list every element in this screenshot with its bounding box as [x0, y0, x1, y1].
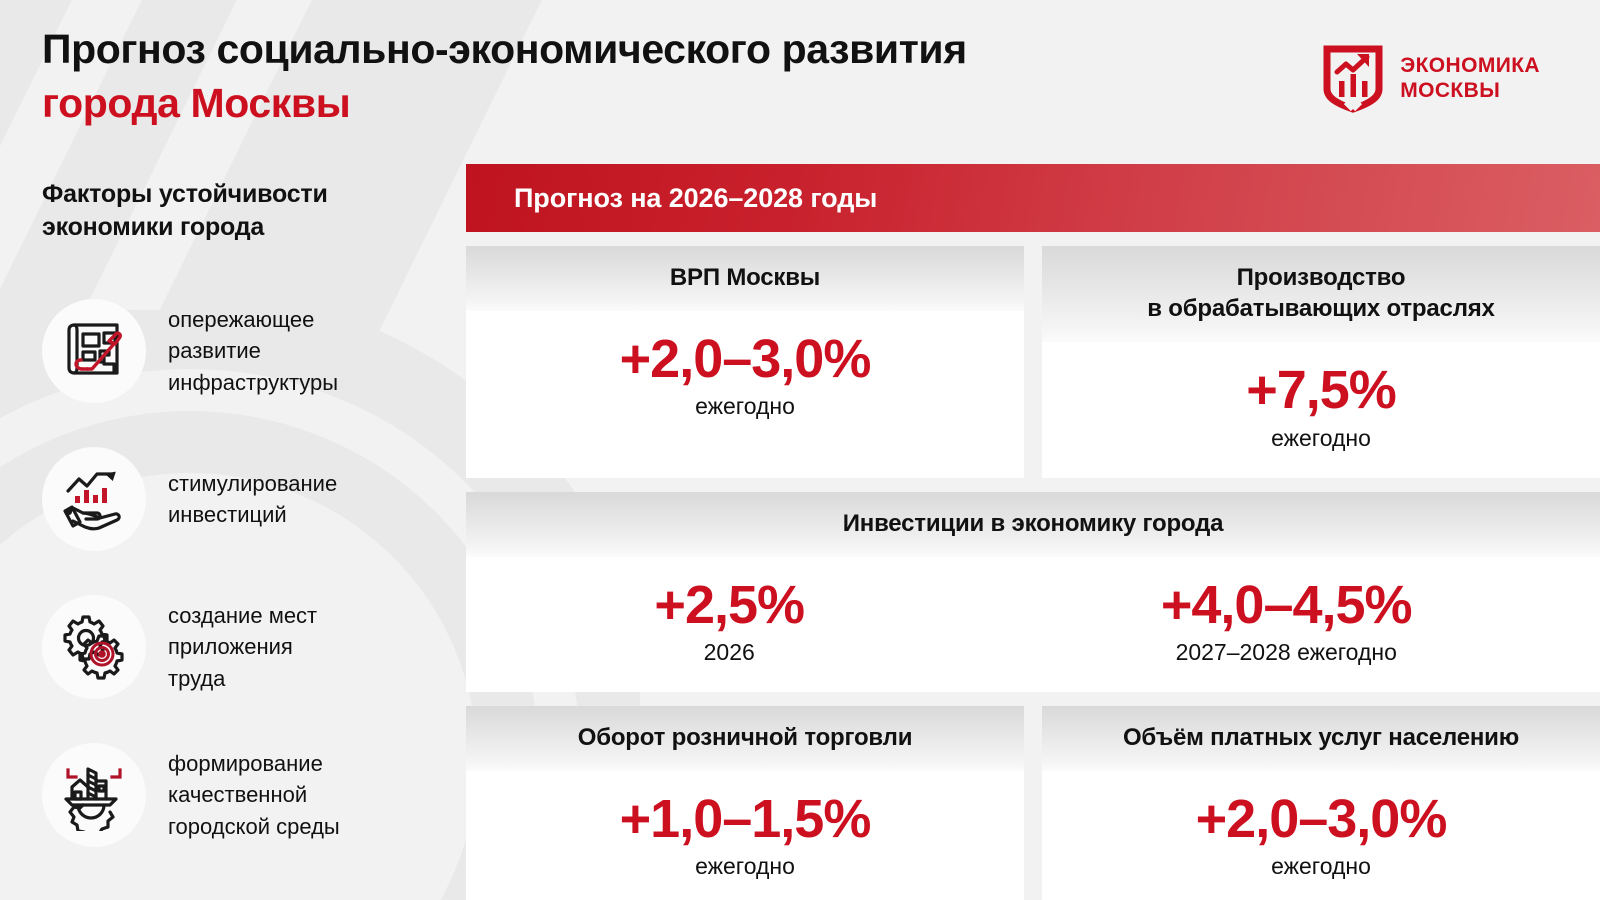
factor-label-line: создание мест	[168, 600, 317, 631]
metric-note: ежегодно	[1246, 425, 1396, 452]
metric-card-retail-turnover: Оборот розничной торговли +1,0–1,5% ежег…	[466, 706, 1024, 900]
factor-label-line: опережающее	[168, 304, 338, 335]
metric-value: +1,0–1,5%	[620, 791, 871, 847]
forecast-row-2: Инвестиции в экономику города +2,5% 2026…	[466, 492, 1600, 692]
metric-note: ежегодно	[1196, 853, 1447, 880]
factor-label-line: формирование	[168, 748, 340, 779]
metric-value: +4,0–4,5%	[1161, 577, 1412, 633]
metric-card-investments: Инвестиции в экономику города +2,5% 2026…	[466, 492, 1600, 692]
page-title: Прогноз социально-экономического развити…	[42, 22, 967, 130]
metric-note: ежегодно	[620, 853, 871, 880]
factor-label-line: городской среды	[168, 811, 340, 842]
factor-label-line: качественной	[168, 779, 340, 810]
metric-card-title-line: Инвестиции в экономику города	[480, 508, 1586, 539]
metric-pair: +2,5% 2026 +4,0–4,5% 2027–2028 ежегодно	[476, 577, 1590, 666]
forecast-panel: Прогноз на 2026–2028 годы ВРП Москвы +2,…	[466, 164, 1600, 900]
infographic-page: Прогноз социально-экономического развити…	[0, 0, 1600, 900]
metric-card-title-line: в обрабатывающих отраслях	[1056, 293, 1586, 324]
metric-card-grp: ВРП Москвы +2,0–3,0% ежегодно	[466, 246, 1024, 478]
metric-card-title-line: Оборот розничной торговли	[480, 722, 1010, 753]
metric-card-title: Производство в обрабатывающих отраслях	[1042, 246, 1600, 342]
metric-card-title-line: Производство	[1056, 262, 1586, 293]
metric-note: ежегодно	[620, 393, 871, 420]
metric: +7,5% ежегодно	[1246, 362, 1396, 451]
sidebar-heading: Факторы устойчивости экономики города	[42, 178, 442, 243]
factor-label-line: развитие	[168, 335, 338, 366]
metric-card-manufacturing: Производство в обрабатывающих отраслях +…	[1042, 246, 1600, 478]
factor-item-infrastructure: опережающее развитие инфраструктуры	[42, 299, 442, 403]
factor-label-infrastructure: опережающее развитие инфраструктуры	[168, 304, 338, 398]
factor-item-investments: стимулирование инвестиций	[42, 447, 442, 551]
metric: +4,0–4,5% 2027–2028 ежегодно	[1161, 577, 1412, 666]
page-header: Прогноз социально-экономического развити…	[0, 0, 1600, 150]
metric: +2,0–3,0% ежегодно	[620, 331, 871, 420]
factor-label-investments: стимулирование инвестиций	[168, 468, 337, 530]
metric-value: +2,0–3,0%	[1196, 791, 1447, 847]
metric-value: +2,0–3,0%	[620, 331, 871, 387]
factor-label-line: инфраструктуры	[168, 367, 338, 398]
metric-card-title: ВРП Москвы	[466, 246, 1024, 311]
brand-logo: ЭКОНОМИКА МОСКВЫ	[1322, 45, 1540, 113]
metric: +1,0–1,5% ежегодно	[620, 791, 871, 880]
metric-card-body: +2,0–3,0% ежегодно	[466, 311, 1024, 477]
metric-card-title: Инвестиции в экономику города	[466, 492, 1600, 557]
forecast-row-1: ВРП Москвы +2,0–3,0% ежегодно Производст…	[466, 246, 1600, 478]
metric-card-title-line: ВРП Москвы	[480, 262, 1010, 293]
factor-label-line: стимулирование	[168, 468, 337, 499]
page-title-line-1: Прогноз социально-экономического развити…	[42, 26, 967, 72]
metric-card-title: Оборот розничной торговли	[466, 706, 1024, 771]
factor-label-line: приложения	[168, 631, 317, 662]
brand-name-line-1: ЭКОНОМИКА	[1400, 54, 1540, 79]
sidebar-heading-line-2: экономики города	[42, 211, 442, 244]
metric-card-body: +1,0–1,5% ежегодно	[466, 771, 1024, 900]
hand-growth-chart-icon	[42, 447, 146, 551]
metric-card-body: +2,0–3,0% ежегодно	[1042, 771, 1600, 900]
forecast-panel-header: Прогноз на 2026–2028 годы	[466, 164, 1600, 232]
shield-chart-icon	[1322, 45, 1384, 113]
city-gear-icon	[42, 743, 146, 847]
forecast-panel-title: Прогноз на 2026–2028 годы	[514, 183, 877, 214]
factor-item-urban-environment: формирование качественной городской сред…	[42, 743, 442, 847]
metric-value: +7,5%	[1246, 362, 1396, 418]
metric: +2,5% 2026	[654, 577, 804, 666]
metric-card-paid-services: Объём платных услуг населению +2,0–3,0% …	[1042, 706, 1600, 900]
metric-card-title: Объём платных услуг населению	[1042, 706, 1600, 771]
metric: +2,0–3,0% ежегодно	[1196, 791, 1447, 880]
page-title-line-2: города Москвы	[42, 76, 967, 130]
factor-item-jobs: создание мест приложения труда	[42, 595, 442, 699]
brand-name-line-2: МОСКВЫ	[1400, 79, 1540, 104]
gears-target-icon	[42, 595, 146, 699]
brand-name: ЭКОНОМИКА МОСКВЫ	[1400, 54, 1540, 104]
metric-card-body: +2,5% 2026 +4,0–4,5% 2027–2028 ежегодно	[466, 557, 1600, 692]
forecast-row-3: Оборот розничной торговли +1,0–1,5% ежег…	[466, 706, 1600, 900]
factor-label-line: труда	[168, 663, 317, 694]
sustainability-factors-sidebar: Факторы устойчивости экономики города	[42, 178, 442, 891]
metric-value: +2,5%	[654, 577, 804, 633]
factor-label-urban-environment: формирование качественной городской сред…	[168, 748, 340, 842]
metric-card-title-line: Объём платных услуг населению	[1056, 722, 1586, 753]
metric-note: 2027–2028 ежегодно	[1161, 639, 1412, 666]
factor-label-jobs: создание мест приложения труда	[168, 600, 317, 694]
sidebar-heading-line-1: Факторы устойчивости	[42, 178, 442, 211]
blueprint-pencil-icon	[42, 299, 146, 403]
metric-card-body: +7,5% ежегодно	[1042, 342, 1600, 477]
metric-note: 2026	[654, 639, 804, 666]
factor-label-line: инвестиций	[168, 499, 337, 530]
